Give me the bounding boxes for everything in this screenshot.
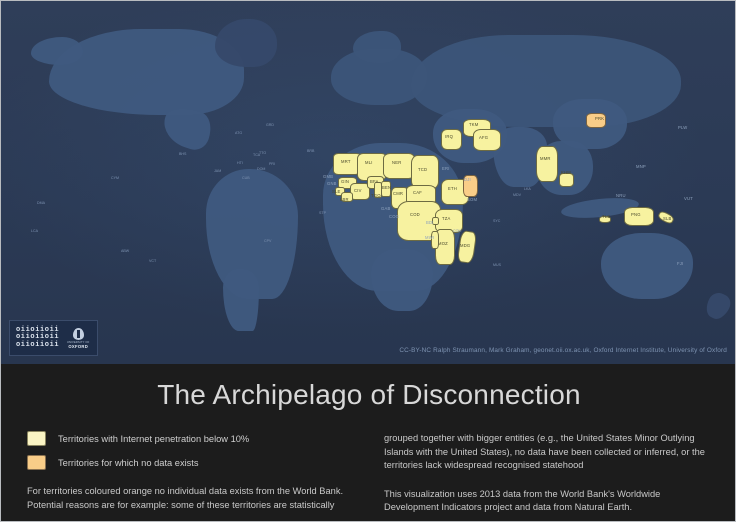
territory-label-som: SOM — [467, 197, 477, 202]
page-title: The Archipelago of Disconnection — [1, 364, 736, 411]
minor-label-mdv: MDV — [513, 193, 521, 197]
territory-label-civ: CIV — [354, 188, 362, 193]
legend-label-no-data: Territories for which no data exists — [58, 458, 199, 468]
left-note-text: For territories coloured orange no indiv… — [27, 485, 354, 512]
legend-item-below-10[interactable]: Territories with Internet penetration be… — [27, 431, 354, 446]
territory-label-tls: TLS — [602, 214, 610, 219]
territory-label-ner: NER — [392, 160, 401, 165]
territory-label-prk: PRK — [595, 116, 604, 121]
territory-label-tgo: TGO — [371, 193, 381, 198]
territory-label-sle: SLE — [332, 189, 341, 194]
territory-label-tza: TZA — [442, 216, 451, 221]
oii-line-3: oiioiioii — [16, 342, 59, 350]
landmass-southern-africa — [371, 249, 433, 311]
minor-label-trt: TTO — [259, 151, 266, 155]
legend-item-no-data[interactable]: Territories for which no data exists — [27, 455, 354, 470]
minor-label-dma: DMA — [37, 201, 45, 205]
territory-label-ben: BEN — [382, 185, 391, 190]
info-column-right: grouped together with bigger entities (e… — [384, 431, 711, 515]
territory-label-nru: NRU — [616, 193, 626, 198]
minor-label-atg: ATG — [235, 131, 242, 135]
crest-oxford-label: OXFORD — [68, 344, 88, 349]
minor-label-mus: MUS — [493, 263, 501, 267]
territory-irq[interactable] — [441, 129, 462, 150]
territory-label-bdi: BDI — [426, 220, 434, 225]
territory-label-mdg: MDG — [460, 243, 470, 248]
info-panel: The Archipelago of Disconnection Territo… — [1, 364, 736, 522]
territory-label-mrt: MRT — [341, 159, 351, 164]
territory-label-eri: ERI — [442, 166, 450, 171]
map-attribution: CC-BY-NC Ralph Straumann, Mark Graham, g… — [399, 347, 727, 354]
info-column-left: Territories with Internet penetration be… — [27, 431, 354, 515]
territory-label-plw: PLW — [678, 125, 687, 130]
oii-oxford-logo: oiioiioii oiioiioii oiioiioii UNIVERSITY… — [9, 320, 98, 356]
territory-tcd[interactable] — [411, 155, 439, 189]
territory-label-cmr: CMR — [393, 191, 403, 196]
territory-label-vut: VUT — [684, 196, 693, 201]
territory-label-dji: DJI — [464, 177, 471, 182]
legend-label-below-10: Territories with Internet penetration be… — [58, 434, 249, 444]
landmass-australia — [601, 233, 693, 299]
crest-shield-icon — [73, 328, 84, 340]
territory-label-mwi: MWI — [425, 235, 434, 240]
territory-label-gnb: GNB — [327, 181, 337, 186]
territory-label-cod: COD — [410, 212, 420, 217]
right-note-continuation: grouped together with bigger entities (e… — [384, 432, 711, 473]
legend-swatch-yellow — [27, 431, 46, 446]
minor-label-cym: CYM — [111, 176, 119, 180]
minor-label-cub: CUB — [242, 176, 250, 180]
territory-afg[interactable] — [473, 129, 501, 151]
territory-label-caf: CAF — [413, 190, 422, 195]
minor-label-grd: GRD — [266, 123, 274, 127]
minor-label-vct: VCT — [149, 259, 156, 263]
oii-wordmark: oiioiioii oiioiioii oiioiioii — [16, 327, 59, 350]
right-note-source: This visualization uses 2013 data from t… — [384, 488, 711, 515]
territory-label-slb: SLB — [663, 216, 672, 221]
territory-label-khm: KHM — [561, 170, 571, 175]
landmass-scandinavia — [353, 31, 401, 63]
territory-label-eth: ETH — [448, 186, 457, 191]
territory-label-tkm: TKM — [469, 122, 478, 127]
minor-label-pri: PRI — [269, 162, 275, 166]
territory-mwi[interactable] — [431, 231, 439, 249]
territory-khm[interactable] — [559, 173, 574, 187]
territory-label-gmb: GMB — [323, 174, 333, 179]
territory-label-irq: IRQ — [445, 134, 453, 139]
visualization-frame: MRT MLI NER TCD GIN CIV BFA BEN TGO SLE … — [0, 0, 736, 522]
territory-label-afg: AFG — [479, 135, 488, 140]
territory-label-gab: GAB — [381, 206, 390, 211]
territory-label-mmr: MMR — [540, 156, 551, 161]
territory-label-png: PNG — [631, 212, 641, 217]
territory-label-lbr: LBR — [340, 197, 349, 202]
minor-label-dom: DOM — [257, 167, 265, 171]
minor-label-hti: HTI — [237, 161, 243, 165]
minor-label-abw: ABW — [121, 249, 129, 253]
info-columns: Territories with Internet penetration be… — [1, 411, 736, 515]
territory-mmr[interactable] — [536, 146, 558, 182]
minor-label-bhs: BHS — [179, 152, 186, 156]
territory-label-cog: COG — [389, 214, 399, 219]
landmass-alaska — [31, 37, 83, 65]
legend-swatch-orange — [27, 455, 46, 470]
territory-label-mli: MLI — [365, 160, 373, 165]
minor-label-lca: LCA — [31, 229, 38, 233]
minor-label-com: COM — [453, 229, 461, 233]
landmass-south-america-south — [223, 269, 259, 331]
territory-label-mnp: MNP — [636, 164, 646, 169]
minor-label-brb: BRB — [307, 149, 314, 153]
minor-label-cpv: CPV — [264, 239, 271, 243]
territory-label-tcd: TCD — [418, 167, 427, 172]
territory-label-gin: GIN — [341, 179, 349, 184]
oxford-crest-icon: UNIVERSITY OF OXFORD — [65, 325, 91, 351]
minor-label-stp: STP — [319, 211, 326, 215]
minor-label-lka: LKA — [524, 187, 531, 191]
landmass-greenland — [215, 19, 277, 67]
territory-label-fji: FJI — [677, 261, 683, 266]
minor-label-jam: JAM — [214, 169, 221, 173]
minor-label-syc: SYC — [493, 219, 500, 223]
world-map[interactable]: MRT MLI NER TCD GIN CIV BFA BEN TGO SLE … — [1, 1, 736, 364]
territory-label-moz: MOZ — [438, 241, 448, 246]
